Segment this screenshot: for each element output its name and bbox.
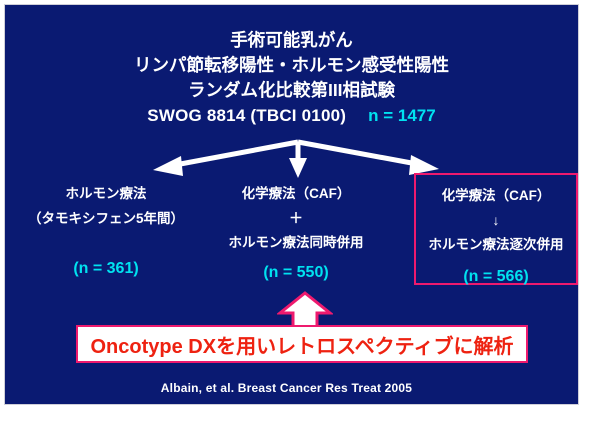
arm-concurrent-line-1: 化学療法（CAF）: [201, 181, 391, 206]
arrow-to-sequential-arm: [298, 142, 439, 175]
slide-title-block: 手術可能乳がん リンパ節転移陽性・ホルモン感受性陽性 ランダム化比較第III相試…: [5, 28, 578, 128]
slide-canvas: 手術可能乳がん リンパ節転移陽性・ホルモン感受性陽性 ランダム化比較第III相試…: [5, 5, 578, 404]
title-line-3: ランダム化比較第III相試験: [5, 78, 578, 103]
arm-concurrent-line-3: ホルモン療法同時併用: [201, 230, 391, 255]
treatment-arm-sequential: 化学療法（CAF） ↓ ホルモン療法逐次併用 (n = 566): [414, 173, 578, 285]
arm-hormone-line-2: （タモキシフェン5年間）: [11, 206, 201, 231]
analysis-callout-banner: Oncotype DXを用いレトロスペクティブに解析: [76, 325, 528, 363]
title-line-2: リンパ節転移陽性・ホルモン感受性陽性: [5, 53, 578, 78]
arm-sequential-line-3: ホルモン療法逐次併用: [416, 232, 576, 257]
title-line-1: 手術可能乳がん: [5, 28, 578, 53]
arm-sequential-line-1: 化学療法（CAF）: [416, 183, 576, 208]
arrow-to-hormone-arm: [153, 142, 298, 176]
arm-concurrent-plus-symbol: ＋: [201, 206, 391, 230]
total-enrollment-count: n = 1477: [368, 103, 436, 128]
treatment-arm-hormone: ホルモン療法 （タモキシフェン5年間） (n = 361): [11, 181, 201, 281]
trial-identifier: SWOG 8814 (TBCI 0100): [147, 103, 346, 128]
treatment-arm-concurrent: 化学療法（CAF） ＋ ホルモン療法同時併用 (n = 550): [201, 181, 391, 285]
citation-text: Albain, et al. Breast Cancer Res Treat 2…: [5, 381, 578, 395]
arrow-to-concurrent-arm: [289, 142, 307, 178]
arm-hormone-count: (n = 361): [11, 257, 201, 281]
arm-hormone-line-1: ホルモン療法: [11, 181, 201, 206]
title-line-4-row: SWOG 8814 (TBCI 0100) n = 1477: [5, 103, 578, 128]
down-arrow-icon: ↓: [416, 208, 576, 232]
slide-root: 手術可能乳がん リンパ節転移陽性・ホルモン感受性陽性 ランダム化比較第III相試…: [0, 0, 600, 424]
arm-concurrent-count: (n = 550): [201, 261, 391, 285]
arm-sequential-count: (n = 566): [416, 265, 576, 289]
up-arrow-icon: [277, 291, 333, 329]
